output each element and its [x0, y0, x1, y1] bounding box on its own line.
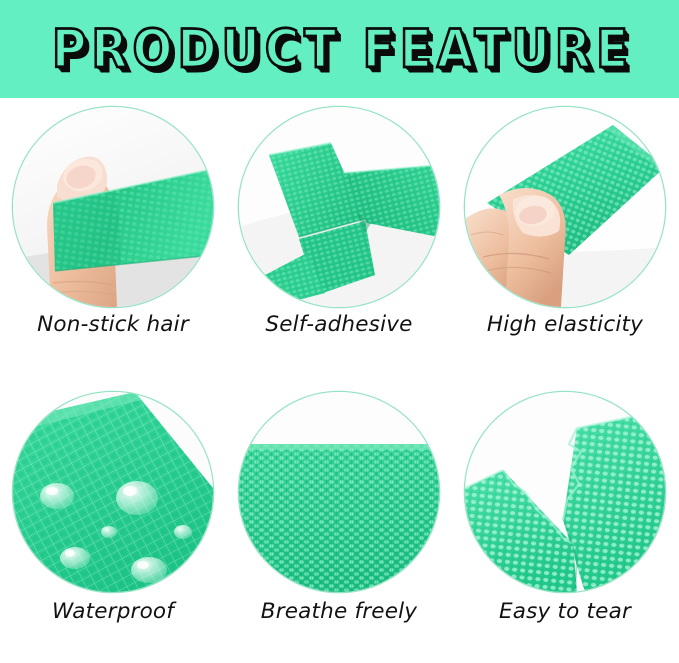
header-banner: PRODUCT FEATURE — [0, 0, 679, 98]
feature-item-high-elasticity: High elasticity — [452, 98, 678, 378]
feature-image-self-adhesive — [239, 107, 439, 307]
feature-item-waterproof: Waterproof — [0, 383, 226, 663]
feature-caption-easy-to-tear: Easy to tear — [452, 599, 678, 624]
feature-caption-high-elasticity: High elasticity — [452, 312, 678, 337]
feature-image-breathe-freely — [239, 392, 439, 592]
feature-caption-breathe-freely: Breathe freely — [226, 599, 452, 624]
feature-image-easy-to-tear — [465, 392, 665, 592]
feature-image-waterproof — [13, 392, 213, 592]
feature-image-non-stick-hair — [13, 107, 213, 307]
feature-caption-waterproof: Waterproof — [0, 599, 226, 624]
feature-image-easy-to-tear-cell: Easy to tear — [452, 383, 678, 663]
feature-item-self-adhesive: Self-adhesive — [226, 98, 452, 378]
feature-grid: Non-stick hair — [0, 98, 679, 657]
feature-item-breathe-freely: Breathe freely — [226, 383, 452, 663]
feature-image-high-elasticity — [465, 107, 665, 307]
feature-caption-non-stick-hair: Non-stick hair — [0, 312, 226, 337]
feature-caption-self-adhesive: Self-adhesive — [226, 312, 452, 337]
feature-item-non-stick-hair: Non-stick hair — [0, 98, 226, 378]
page-title: PRODUCT FEATURE — [46, 23, 633, 76]
